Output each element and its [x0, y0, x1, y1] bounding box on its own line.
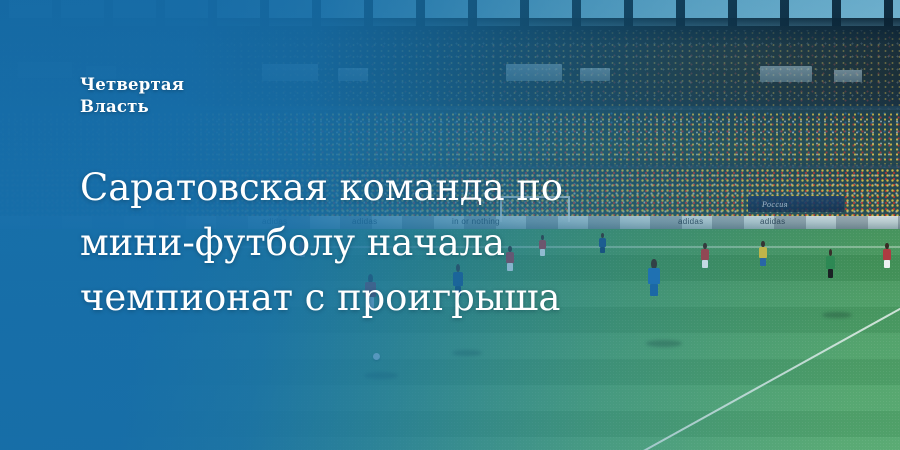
headline-line-1: Саратовская команда по	[80, 160, 700, 215]
headline-line-3: чемпионат с проигрыша	[80, 270, 700, 325]
card-content: Четвертая Власть Саратовская команда по …	[0, 0, 900, 450]
article-share-card: Россия adidas adidas in or nothing adida…	[0, 0, 900, 450]
site-logo[interactable]: Четвертая Власть	[80, 74, 184, 118]
page-title: Саратовская команда по мини-футболу нача…	[80, 160, 700, 325]
headline-line-2: мини-футболу начала	[80, 215, 700, 270]
